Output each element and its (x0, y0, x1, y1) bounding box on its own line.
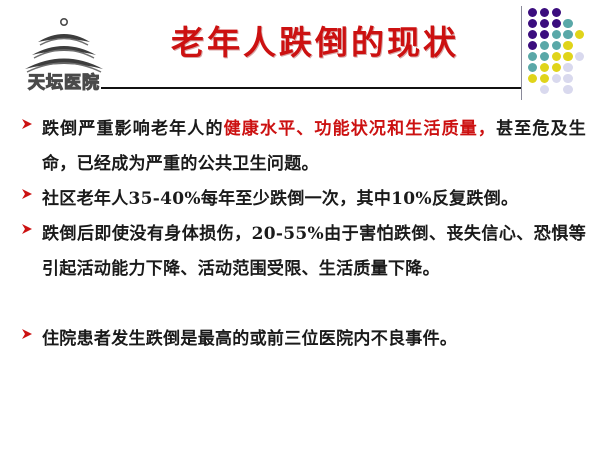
text-segment: 跌倒严重影响老年人的 (42, 119, 224, 139)
decorative-dot (540, 41, 549, 50)
decorative-dot (528, 63, 537, 72)
decorative-dot-matrix (528, 8, 596, 96)
decorative-dot (552, 63, 561, 72)
decorative-dot (563, 63, 572, 72)
decorative-dot (552, 30, 561, 39)
text-segment: 住院患者发生跌倒是最高的或前三位医院内不良事件。 (42, 329, 457, 349)
decorative-dot (528, 52, 537, 61)
text-segment: 跌倒后即使没有身体损伤，20-55%由于害怕跌倒、丧失信心、恐惧等引起活动能力下… (42, 224, 586, 279)
decorative-dot (552, 8, 561, 17)
red-arrow-bullet-icon (20, 221, 36, 237)
decorative-dot (552, 74, 561, 83)
slide-footer: Beijing Tiantan Hospital 4 (0, 390, 600, 450)
decorative-dot (528, 8, 537, 17)
page-title: 老年人跌倒的现状 (120, 22, 510, 64)
decorative-dot (540, 74, 549, 83)
list-item-text: 跌倒后即使没有身体损伤，20-55%由于害怕跌倒、丧失信心、恐惧等引起活动能力下… (42, 217, 586, 287)
list-item-text: 社区老年人35-40%每年至少跌倒一次，其中10%反复跌倒。 (42, 182, 586, 217)
decorative-dot (540, 63, 549, 72)
slide-body: 跌倒严重影响老年人的健康水平、功能状况和生活质量，甚至危及生命，已经成为严重的公… (0, 110, 600, 390)
decorative-dot (563, 74, 572, 83)
decorative-dot (563, 19, 572, 28)
decorative-dot (552, 52, 561, 61)
list-item: 住院患者发生跌倒是最高的或前三位医院内不良事件。 (20, 322, 586, 357)
decorative-dot (540, 19, 549, 28)
decorative-dot (528, 41, 537, 50)
decorative-dot (552, 19, 561, 28)
decorative-dot (540, 8, 549, 17)
list-item-text: 跌倒严重影响老年人的健康水平、功能状况和生活质量，甚至危及生命，已经成为严重的公… (42, 112, 586, 182)
svg-text:天坛医院: 天坛医院 (28, 72, 100, 93)
header-vertical-divider (521, 6, 522, 100)
decorative-dot (552, 41, 561, 50)
decorative-dot (540, 52, 549, 61)
decorative-dot (528, 30, 537, 39)
list-item: 跌倒后即使没有身体损伤，20-55%由于害怕跌倒、丧失信心、恐惧等引起活动能力下… (20, 217, 586, 287)
red-arrow-bullet-icon (20, 116, 36, 132)
red-arrow-bullet-icon (20, 186, 36, 202)
decorative-dot (563, 85, 572, 94)
decorative-dot (540, 30, 549, 39)
list-item: 跌倒严重影响老年人的健康水平、功能状况和生活质量，甚至危及生命，已经成为严重的公… (20, 112, 586, 182)
decorative-dot (540, 85, 549, 94)
decorative-dot (563, 30, 572, 39)
list-item: 社区老年人35-40%每年至少跌倒一次，其中10%反复跌倒。 (20, 182, 586, 217)
text-segment: 社区老年人35-40%每年至少跌倒一次，其中10%反复跌倒。 (42, 189, 518, 209)
slide-header: 天坛医院 老年人跌倒的现状 (0, 0, 600, 108)
decorative-dot (575, 52, 584, 61)
title-underline-rule (101, 87, 522, 89)
decorative-dot (528, 74, 537, 83)
decorative-dot (563, 52, 572, 61)
decorative-dot (563, 41, 572, 50)
red-arrow-bullet-icon (20, 326, 36, 342)
list-item-text: 住院患者发生跌倒是最高的或前三位医院内不良事件。 (42, 322, 586, 357)
temple-of-heaven-logo: 天坛医院 (14, 12, 118, 94)
highlighted-text-segment: 健康水平、功能状况和生活质量， (224, 119, 496, 139)
presentation-slide: 天坛医院 老年人跌倒的现状 跌倒严重影响老年人的健康水平、功能状况和生活质量，甚… (0, 0, 600, 450)
decorative-dot (575, 30, 584, 39)
decorative-dot (528, 19, 537, 28)
